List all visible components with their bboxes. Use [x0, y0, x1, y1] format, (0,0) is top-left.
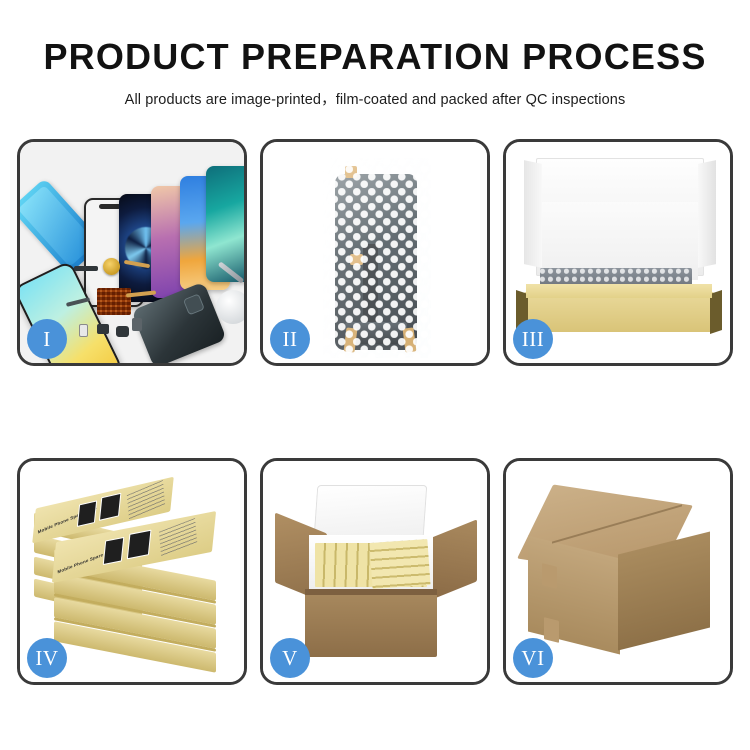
page-title: PRODUCT PREPARATION PROCESS	[0, 38, 750, 76]
process-step-card-2[interactable]: II	[260, 139, 490, 366]
infographic-page: PRODUCT PREPARATION PROCESS All products…	[0, 0, 750, 750]
bubble-texture	[323, 158, 431, 358]
bubble-wrap-bag	[323, 158, 431, 358]
box-print-text-block-rear	[127, 480, 165, 520]
small-part-block	[97, 324, 109, 334]
small-part-chip	[79, 324, 88, 337]
carton-body-open	[305, 589, 437, 657]
copper-grid-part	[97, 288, 131, 315]
step-badge-2: II	[270, 319, 310, 359]
header: PRODUCT PREPARATION PROCESS All products…	[0, 0, 750, 109]
process-step-card-6[interactable]: VI	[503, 458, 733, 685]
step-badge-3: III	[513, 319, 553, 359]
carton-tape-patch-upper	[542, 563, 557, 589]
process-step-card-3[interactable]: III	[503, 139, 733, 366]
step-badge-5: V	[270, 638, 310, 678]
box-print-window-c	[103, 537, 125, 565]
gold-coil-part	[103, 258, 120, 275]
process-step-grid: I II	[17, 139, 733, 685]
process-step-card-4[interactable]: Mobile Phone Spare Parts Mobile Phone Sp…	[17, 458, 247, 685]
small-part-module	[132, 318, 142, 331]
kraft-box-front-edge	[526, 284, 712, 298]
step-badge-4: IV	[27, 638, 67, 678]
gloved-hand	[216, 290, 244, 324]
step-badge-6: VI	[513, 638, 553, 678]
box-print-window-a	[77, 500, 97, 527]
box-print-text-block-front	[159, 518, 197, 557]
kraft-box-base	[524, 292, 714, 332]
box-print-window-d	[127, 530, 152, 560]
process-step-card-1[interactable]: I	[17, 139, 247, 366]
page-subtitle: All products are image-printed，film-coat…	[0, 88, 750, 109]
yellow-boxes-row-b	[369, 539, 430, 589]
process-step-card-5[interactable]: V	[260, 458, 490, 685]
small-part-speaker	[116, 326, 129, 337]
step-badge-1: I	[27, 319, 67, 359]
box-print-window-b	[99, 493, 121, 521]
small-part-bar	[74, 266, 98, 271]
carton-tape-patch-lower	[544, 617, 559, 643]
